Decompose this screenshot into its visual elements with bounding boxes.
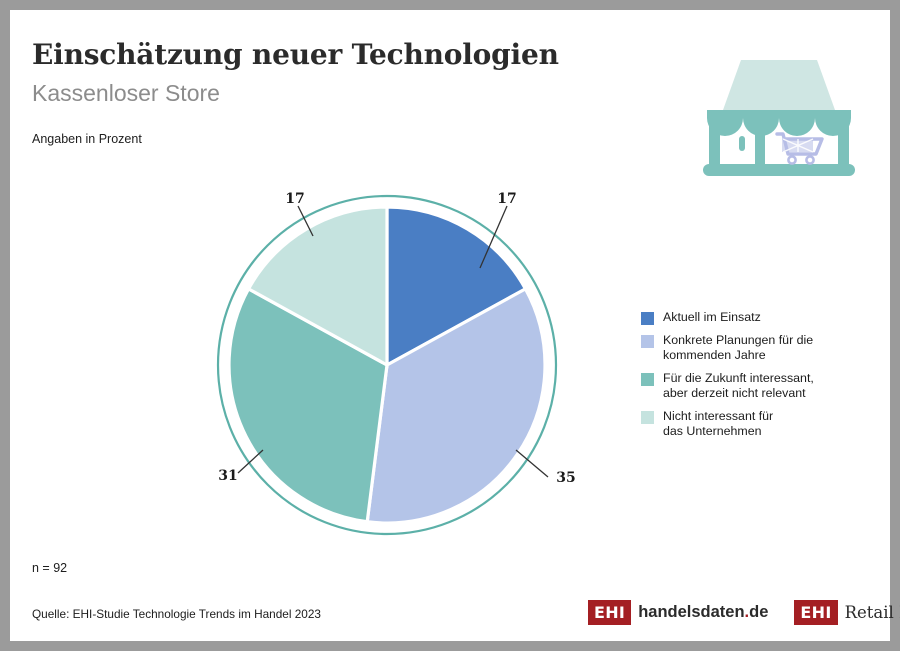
logo-group: EHI handelsdaten.de EHI Retail Institute… [588, 600, 900, 625]
pie-slice [367, 289, 545, 523]
legend-swatch-icon [641, 373, 654, 386]
legend-swatch-icon [641, 411, 654, 424]
ehi-logo-mark: EHI [588, 600, 631, 625]
pie-label-4: 17 [285, 191, 304, 207]
logo-handelsdaten-text: handelsdaten.de [638, 603, 768, 622]
ehi-logo-mark: EHI [794, 600, 837, 625]
logo-word-a: handelsdaten [638, 603, 744, 621]
sample-size: n = 92 [32, 561, 67, 575]
legend-item-label: Konkrete Planungen für die kommenden Jah… [663, 333, 813, 364]
pie-leader-lines [238, 206, 548, 477]
legend-swatch-icon [641, 335, 654, 348]
page-subtitle: Kassenloser Store [32, 80, 220, 107]
pie-outer-ring [218, 196, 556, 534]
content-canvas: Einschätzung neuer Technologien Kassenlo… [10, 10, 890, 641]
legend-item[interactable]: Aktuell im Einsatz [641, 310, 881, 326]
legend-item[interactable]: Konkrete Planungen für die kommenden Jah… [641, 333, 881, 364]
page-title: Einschätzung neuer Technologien [32, 38, 559, 71]
legend-item-label: Nicht interessant für das Unternehmen [663, 409, 773, 440]
pie-value-labels: 17 35 31 17 [218, 191, 575, 486]
units-note: Angaben in Prozent [32, 132, 142, 146]
legend-item[interactable]: Nicht interessant für das Unternehmen [641, 409, 881, 440]
legend-item-label: Aktuell im Einsatz [663, 310, 761, 326]
store-icon [693, 52, 865, 184]
pie-slice [249, 207, 387, 365]
pie-label-1: 17 [497, 191, 516, 207]
shopping-cart-icon [777, 134, 822, 164]
pie-slice [387, 207, 525, 365]
logo-retail-institute-text: Retail Institute® [845, 603, 900, 622]
pie-label-2: 35 [556, 470, 575, 486]
logo-retail-institute[interactable]: EHI Retail Institute® [794, 600, 900, 625]
legend: Aktuell im Einsatz Konkrete Planungen fü… [641, 310, 881, 447]
pie-slices [229, 207, 545, 523]
logo-handelsdaten[interactable]: EHI handelsdaten.de [588, 600, 768, 625]
legend-item[interactable]: Für die Zukunft interessant, aber derzei… [641, 371, 881, 402]
legend-swatch-icon [641, 312, 654, 325]
infographic-root: Einschätzung neuer Technologien Kassenlo… [0, 0, 900, 651]
pie-label-3: 31 [218, 468, 237, 484]
logo-word-b: de [749, 603, 768, 621]
source-note: Quelle: EHI-Studie Technologie Trends im… [32, 607, 321, 621]
legend-item-label: Für die Zukunft interessant, aber derzei… [663, 371, 814, 402]
pie-slice [229, 289, 387, 522]
logo-word: Retail Institute [845, 603, 900, 622]
